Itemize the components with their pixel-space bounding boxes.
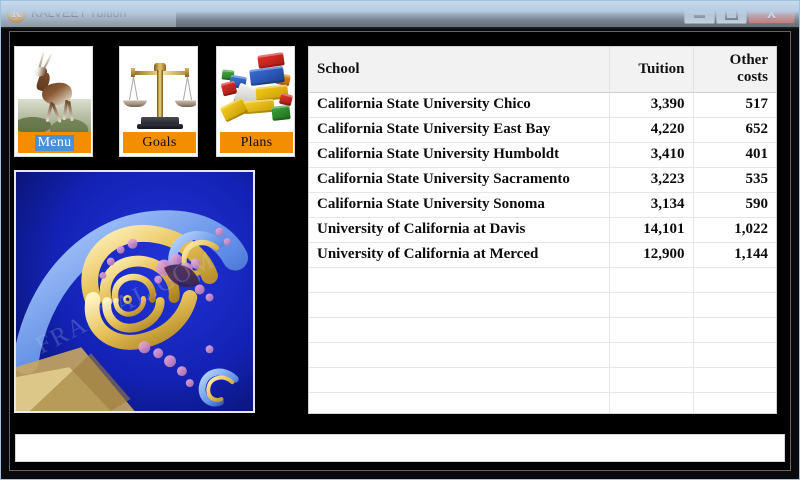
fractal-spiral-image: FRACTAL.COM bbox=[14, 170, 255, 413]
table-row[interactable]: University of California at Davis14,1011… bbox=[309, 218, 776, 243]
application-window: K KALVEET Tuition X bbox=[0, 0, 800, 480]
minimize-button[interactable] bbox=[684, 3, 715, 24]
table-row-empty[interactable] bbox=[309, 268, 776, 293]
table-row[interactable]: California State University East Bay4,22… bbox=[309, 118, 776, 143]
cell-tuition[interactable]: 3,134 bbox=[609, 193, 693, 218]
minimize-icon bbox=[685, 4, 714, 23]
cell-empty[interactable] bbox=[609, 293, 693, 318]
cell-school[interactable]: California State University East Bay bbox=[309, 118, 609, 143]
cell-tuition[interactable]: 3,223 bbox=[609, 168, 693, 193]
table-row[interactable]: California State University Chico3,39051… bbox=[309, 93, 776, 118]
cell-empty[interactable] bbox=[309, 343, 609, 368]
cell-empty[interactable] bbox=[693, 268, 776, 293]
cell-empty[interactable] bbox=[693, 318, 776, 343]
cell-empty[interactable] bbox=[609, 318, 693, 343]
maximize-button[interactable] bbox=[716, 3, 747, 24]
header-row: School Tuition Other costs bbox=[309, 47, 776, 93]
window-controls: X bbox=[684, 3, 795, 24]
cell-other-costs[interactable]: 1,022 bbox=[693, 218, 776, 243]
goals-button-label: Goals bbox=[142, 135, 176, 151]
cell-school[interactable]: California State University Humboldt bbox=[309, 143, 609, 168]
title-bar[interactable]: K KALVEET Tuition X bbox=[1, 1, 799, 27]
table-row[interactable]: University of California at Merced12,900… bbox=[309, 243, 776, 268]
status-bar[interactable] bbox=[15, 434, 785, 462]
cell-school[interactable]: California State University Sacramento bbox=[309, 168, 609, 193]
cell-other-costs[interactable]: 401 bbox=[693, 143, 776, 168]
cell-empty[interactable] bbox=[609, 368, 693, 393]
menu-button[interactable]: Menu bbox=[14, 46, 93, 157]
cell-empty[interactable] bbox=[693, 343, 776, 368]
table-row-empty[interactable] bbox=[309, 393, 776, 415]
cell-empty[interactable] bbox=[609, 343, 693, 368]
cell-empty[interactable] bbox=[609, 393, 693, 415]
goals-button-caption: Goals bbox=[123, 132, 196, 153]
cell-empty[interactable] bbox=[309, 293, 609, 318]
plans-button-label: Plans bbox=[241, 135, 273, 151]
column-header-other-costs[interactable]: Other costs bbox=[693, 47, 776, 93]
table-header: School Tuition Other costs bbox=[309, 47, 776, 93]
balance-scales-photo bbox=[123, 50, 196, 132]
column-header-tuition[interactable]: Tuition bbox=[609, 47, 693, 93]
cell-empty[interactable] bbox=[693, 368, 776, 393]
goals-button[interactable]: Goals bbox=[119, 46, 198, 157]
cell-other-costs[interactable]: 652 bbox=[693, 118, 776, 143]
cell-tuition[interactable]: 14,101 bbox=[609, 218, 693, 243]
table-row[interactable]: California State University Sacramento3,… bbox=[309, 168, 776, 193]
cell-other-costs[interactable]: 1,144 bbox=[693, 243, 776, 268]
cell-school[interactable]: University of California at Merced bbox=[309, 243, 609, 268]
cell-other-costs[interactable]: 590 bbox=[693, 193, 776, 218]
table-row-empty[interactable] bbox=[309, 293, 776, 318]
menu-button-label: Menu bbox=[35, 135, 75, 151]
cell-tuition[interactable]: 12,900 bbox=[609, 243, 693, 268]
cell-empty[interactable] bbox=[693, 393, 776, 415]
app-icon: K bbox=[8, 5, 25, 22]
plans-button-caption: Plans bbox=[220, 132, 293, 153]
close-button[interactable]: X bbox=[748, 3, 795, 24]
cell-empty[interactable] bbox=[309, 318, 609, 343]
table-body: California State University Chico3,39051… bbox=[309, 93, 776, 415]
table-row[interactable]: California State University Sonoma3,1345… bbox=[309, 193, 776, 218]
cell-empty[interactable] bbox=[309, 393, 609, 415]
column-header-school[interactable]: School bbox=[309, 47, 609, 93]
cell-school[interactable]: California State University Sonoma bbox=[309, 193, 609, 218]
table-row[interactable]: California State University Humboldt3,41… bbox=[309, 143, 776, 168]
menu-button-caption: Menu bbox=[18, 132, 91, 153]
table-row-empty[interactable] bbox=[309, 318, 776, 343]
cell-empty[interactable] bbox=[309, 268, 609, 293]
cell-other-costs[interactable]: 535 bbox=[693, 168, 776, 193]
table-row-empty[interactable] bbox=[309, 368, 776, 393]
tuition-table: School Tuition Other costs California St… bbox=[309, 47, 776, 414]
plans-button[interactable]: Plans bbox=[216, 46, 295, 157]
cell-empty[interactable] bbox=[693, 293, 776, 318]
cell-empty[interactable] bbox=[609, 268, 693, 293]
cell-other-costs[interactable]: 517 bbox=[693, 93, 776, 118]
table-row-empty[interactable] bbox=[309, 343, 776, 368]
close-icon: X bbox=[749, 4, 794, 23]
client-area: Menu Goals bbox=[9, 31, 791, 471]
tuition-data-grid[interactable]: School Tuition Other costs California St… bbox=[308, 46, 777, 414]
toy-blocks-photo bbox=[220, 50, 293, 132]
cell-school[interactable]: California State University Chico bbox=[309, 93, 609, 118]
cell-empty[interactable] bbox=[309, 368, 609, 393]
antelope-photo bbox=[18, 50, 91, 132]
cell-tuition[interactable]: 4,220 bbox=[609, 118, 693, 143]
cell-school[interactable]: University of California at Davis bbox=[309, 218, 609, 243]
window-title: KALVEET Tuition bbox=[31, 6, 126, 20]
cell-tuition[interactable]: 3,390 bbox=[609, 93, 693, 118]
maximize-icon bbox=[717, 4, 746, 23]
cell-tuition[interactable]: 3,410 bbox=[609, 143, 693, 168]
